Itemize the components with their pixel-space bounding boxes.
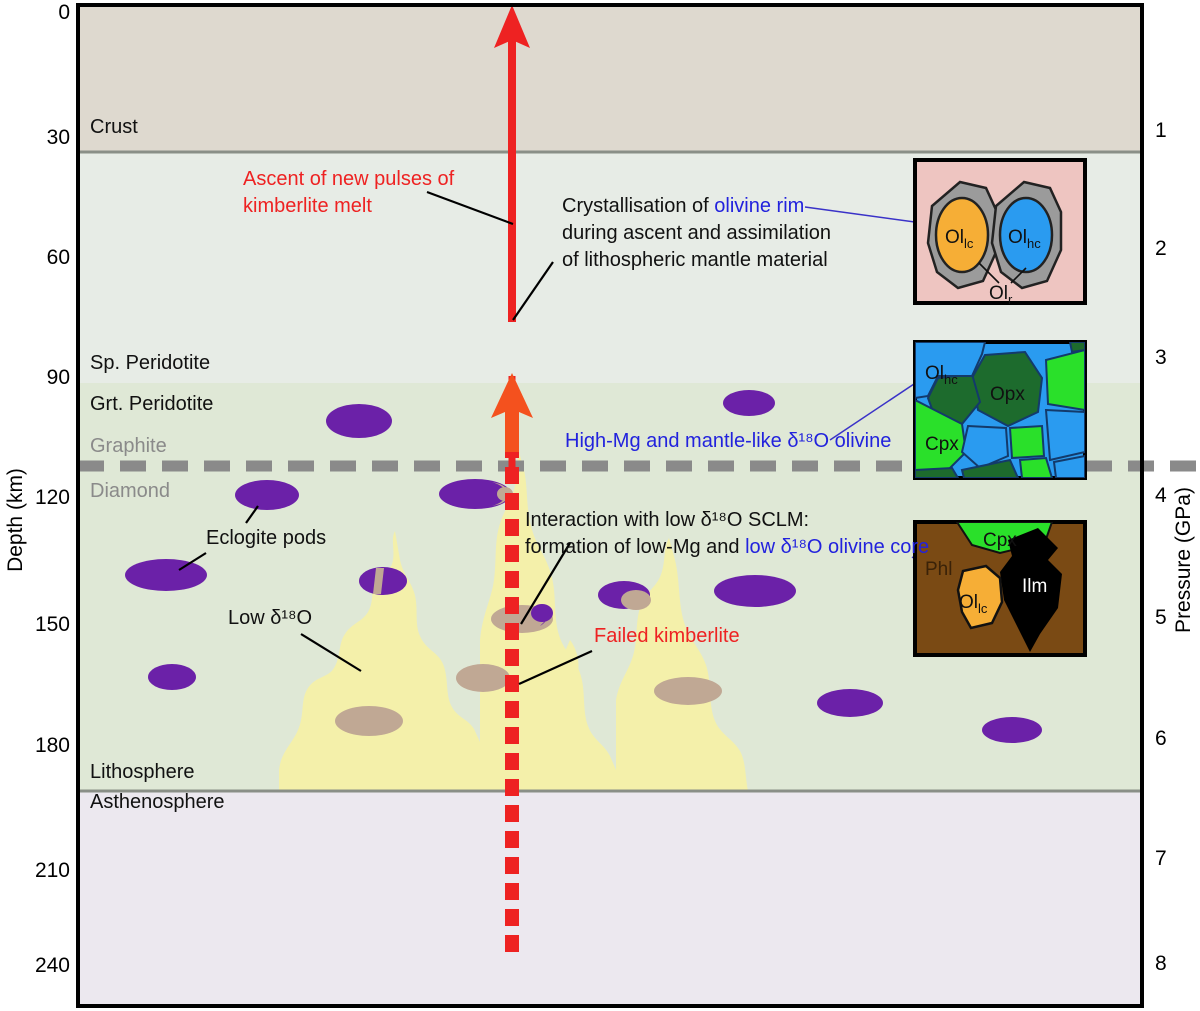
anno-eclogite-pods: Eclogite pods: [206, 527, 326, 549]
eclogite-pod: [723, 390, 775, 416]
pressure-tick: 6: [1155, 727, 1167, 750]
figure-root: Ollc Olhc Olr Olhc Opx: [0, 0, 1200, 1011]
depth-tick: 210: [35, 859, 70, 882]
depth-tick: 240: [35, 954, 70, 977]
anno-interaction-line2: formation of low-Mg and low δ¹⁸O olivine…: [525, 536, 929, 558]
eclogite-pod: [125, 559, 207, 591]
pressure-tick: 5: [1155, 606, 1167, 629]
layer-label-asthenosphere: Asthenosphere: [90, 791, 225, 813]
eclogite-pod-tan: [335, 706, 403, 736]
eclogite-pod-striped: [359, 567, 407, 595]
eclogite-pod: [982, 717, 1042, 743]
grain-cpx-bottom: [1020, 458, 1052, 478]
depth-axis: 0 30 60 90 120 150 180 210 240 Depth (km…: [4, 1, 70, 977]
anno-crystallisation-seg-highlight: olivine rim: [714, 195, 804, 217]
pressure-axis-title: Pressure (GPa): [1172, 487, 1195, 633]
eclogite-pod: [235, 480, 299, 510]
anno-failed-kimberlite: Failed kimberlite: [594, 625, 740, 647]
olivine-zoning-inset[interactable]: Ollc Olhc Olr: [915, 160, 1085, 307]
eclogite-pod: [326, 404, 392, 438]
layer-label-diamond: Diamond: [90, 480, 170, 502]
cross-section-svg: Ollc Olhc Olr Olhc Opx: [0, 0, 1200, 1011]
pressure-tick: 1: [1155, 119, 1167, 142]
grain-opx-corner: [1070, 342, 1085, 352]
anno-crystallisation-line1: Crystallisation of olivine rim: [562, 195, 804, 217]
peridotite-texture-inset[interactable]: Olhc Opx Cpx: [915, 342, 1085, 478]
anno-interaction-seg-highlight: low δ¹⁸O olivine core: [745, 536, 929, 558]
layer-label-graphite: Graphite: [90, 435, 167, 457]
pressure-tick: 2: [1155, 237, 1167, 260]
depth-tick: 90: [47, 366, 70, 389]
grain-cpx-mid: [1010, 426, 1044, 458]
opx-label: Opx: [990, 384, 1025, 405]
depth-axis-title: Depth (km): [4, 468, 27, 572]
layer-crust-fill: [78, 5, 1142, 152]
anno-ascent-line1: Ascent of new pulses of: [243, 168, 455, 190]
depth-tick: 150: [35, 613, 70, 636]
eclogite-pod-tan-lobe: [621, 590, 651, 610]
pressure-axis: 1 2 3 4 5 6 7 8 Pressure (GPa): [1155, 119, 1195, 975]
cpx-label: Cpx: [925, 434, 959, 455]
pressure-tick: 8: [1155, 952, 1167, 975]
anno-crystallisation-line3: of lithospheric mantle material: [562, 249, 828, 271]
marid-assemblage-inset[interactable]: Cpx Phl Ilm Ollc: [915, 522, 1085, 655]
anno-low-d18o: Low δ¹⁸O: [228, 607, 312, 629]
pressure-tick: 7: [1155, 847, 1167, 870]
anno-high-mg-olivine: High-Mg and mantle-like δ¹⁸O olivine: [565, 430, 891, 452]
eclogite-pod: [148, 664, 196, 690]
eclogite-pod-purple-lobe: [531, 604, 553, 622]
pressure-tick: 4: [1155, 484, 1167, 507]
eclogite-pod-tan: [654, 677, 722, 705]
layer-label-grt-peridotite: Grt. Peridotite: [90, 393, 213, 415]
depth-tick: 180: [35, 734, 70, 757]
grain-olivine-right: [1046, 410, 1085, 460]
eclogite-pod: [714, 575, 796, 607]
layer-label-crust: Crust: [90, 116, 138, 138]
layer-asthenosphere-fill: [78, 791, 1142, 1006]
grain-opx-bottom-left: [915, 468, 958, 478]
anno-interaction-line1: Interaction with low δ¹⁸O SCLM:: [525, 509, 809, 531]
layer-label-lithosphere: Lithosphere: [90, 761, 195, 783]
cpx-label: Cpx: [983, 530, 1017, 551]
eclogite-pod: [817, 689, 883, 717]
anno-interaction-seg-plain: formation of low-Mg and: [525, 536, 745, 558]
anno-crystallisation-line2: during ascent and assimilation: [562, 222, 831, 244]
layer-label-sp-peridotite: Sp. Peridotite: [90, 352, 210, 374]
depth-tick: 30: [47, 126, 70, 149]
anno-crystallisation-seg-plain: Crystallisation of: [562, 195, 714, 217]
layer-backgrounds: [78, 5, 1142, 1006]
depth-tick: 120: [35, 486, 70, 509]
phl-label: Phl: [925, 559, 952, 580]
pressure-tick: 3: [1155, 346, 1167, 369]
depth-tick: 60: [47, 246, 70, 269]
grain-cpx-right: [1046, 350, 1085, 410]
depth-tick: 0: [58, 1, 70, 24]
ilm-label: Ilm: [1022, 576, 1047, 597]
anno-ascent-line2: kimberlite melt: [243, 195, 372, 217]
eclogite-pod-tan: [456, 664, 510, 692]
